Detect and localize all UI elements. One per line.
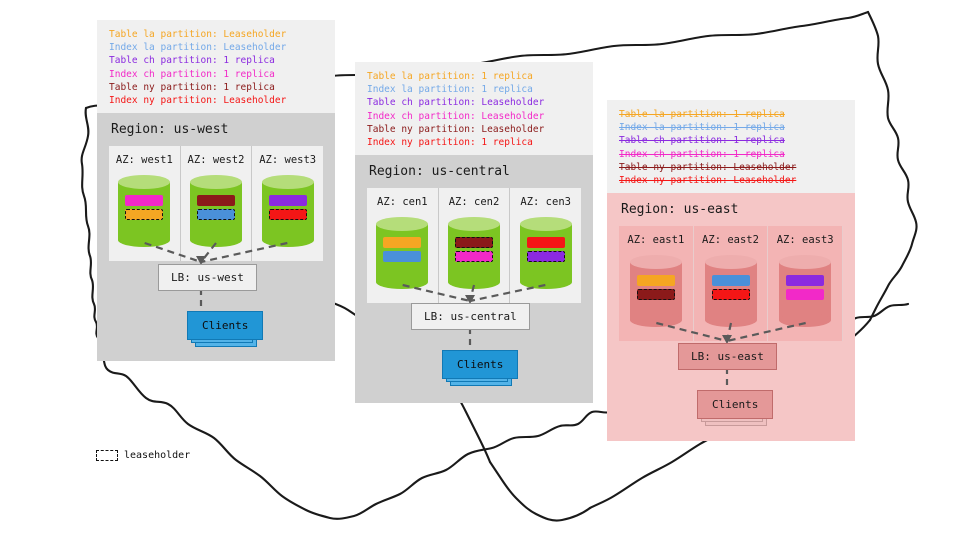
partition-bar-leaseholder bbox=[712, 289, 750, 300]
partition-bar-replica bbox=[125, 195, 163, 206]
clients-box-us-central[interactable]: Clients bbox=[442, 350, 518, 379]
partition-bars bbox=[197, 195, 235, 220]
legend: leaseholder bbox=[96, 450, 190, 461]
partition-bars bbox=[125, 195, 163, 220]
partition-bars bbox=[786, 275, 824, 300]
partition-bar-leaseholder bbox=[637, 289, 675, 300]
partition-bar-leaseholder bbox=[197, 209, 235, 220]
partition-bar-replica bbox=[383, 237, 421, 248]
partition-bar-leaseholder bbox=[455, 251, 493, 262]
clients-stack-us-central: Clients bbox=[442, 350, 518, 379]
partition-bars bbox=[455, 237, 493, 262]
legend-label: leaseholder bbox=[124, 450, 190, 461]
partition-bar-leaseholder bbox=[125, 209, 163, 220]
partition-bars bbox=[637, 275, 675, 300]
clients-box-us-east[interactable]: Clients bbox=[697, 390, 773, 419]
load-balancer-us-east[interactable]: LB: us-east bbox=[678, 343, 777, 370]
partition-bar-replica bbox=[527, 237, 565, 248]
partition-bar-replica bbox=[712, 275, 750, 286]
partition-bar-replica bbox=[383, 251, 421, 262]
partition-bar-leaseholder bbox=[269, 209, 307, 220]
partition-bar-leaseholder bbox=[527, 251, 565, 262]
partition-bars bbox=[269, 195, 307, 220]
leaseholder-dashed-icon bbox=[96, 450, 118, 461]
partition-bars bbox=[383, 237, 421, 262]
partition-bar-replica bbox=[637, 275, 675, 286]
partition-bars bbox=[527, 237, 565, 262]
diagram-canvas: Table la partition: LeaseholderIndex la … bbox=[0, 0, 960, 540]
clients-stack-us-east: Clients bbox=[697, 390, 773, 419]
clients-stack-us-west: Clients bbox=[187, 311, 263, 340]
partition-bar-leaseholder bbox=[455, 237, 493, 248]
clients-box-us-west[interactable]: Clients bbox=[187, 311, 263, 340]
partition-bars bbox=[712, 275, 750, 300]
partition-bar-replica bbox=[269, 195, 307, 206]
partition-bar-replica bbox=[786, 275, 824, 286]
partition-bar-replica bbox=[786, 289, 824, 300]
partition-bar-replica bbox=[197, 195, 235, 206]
